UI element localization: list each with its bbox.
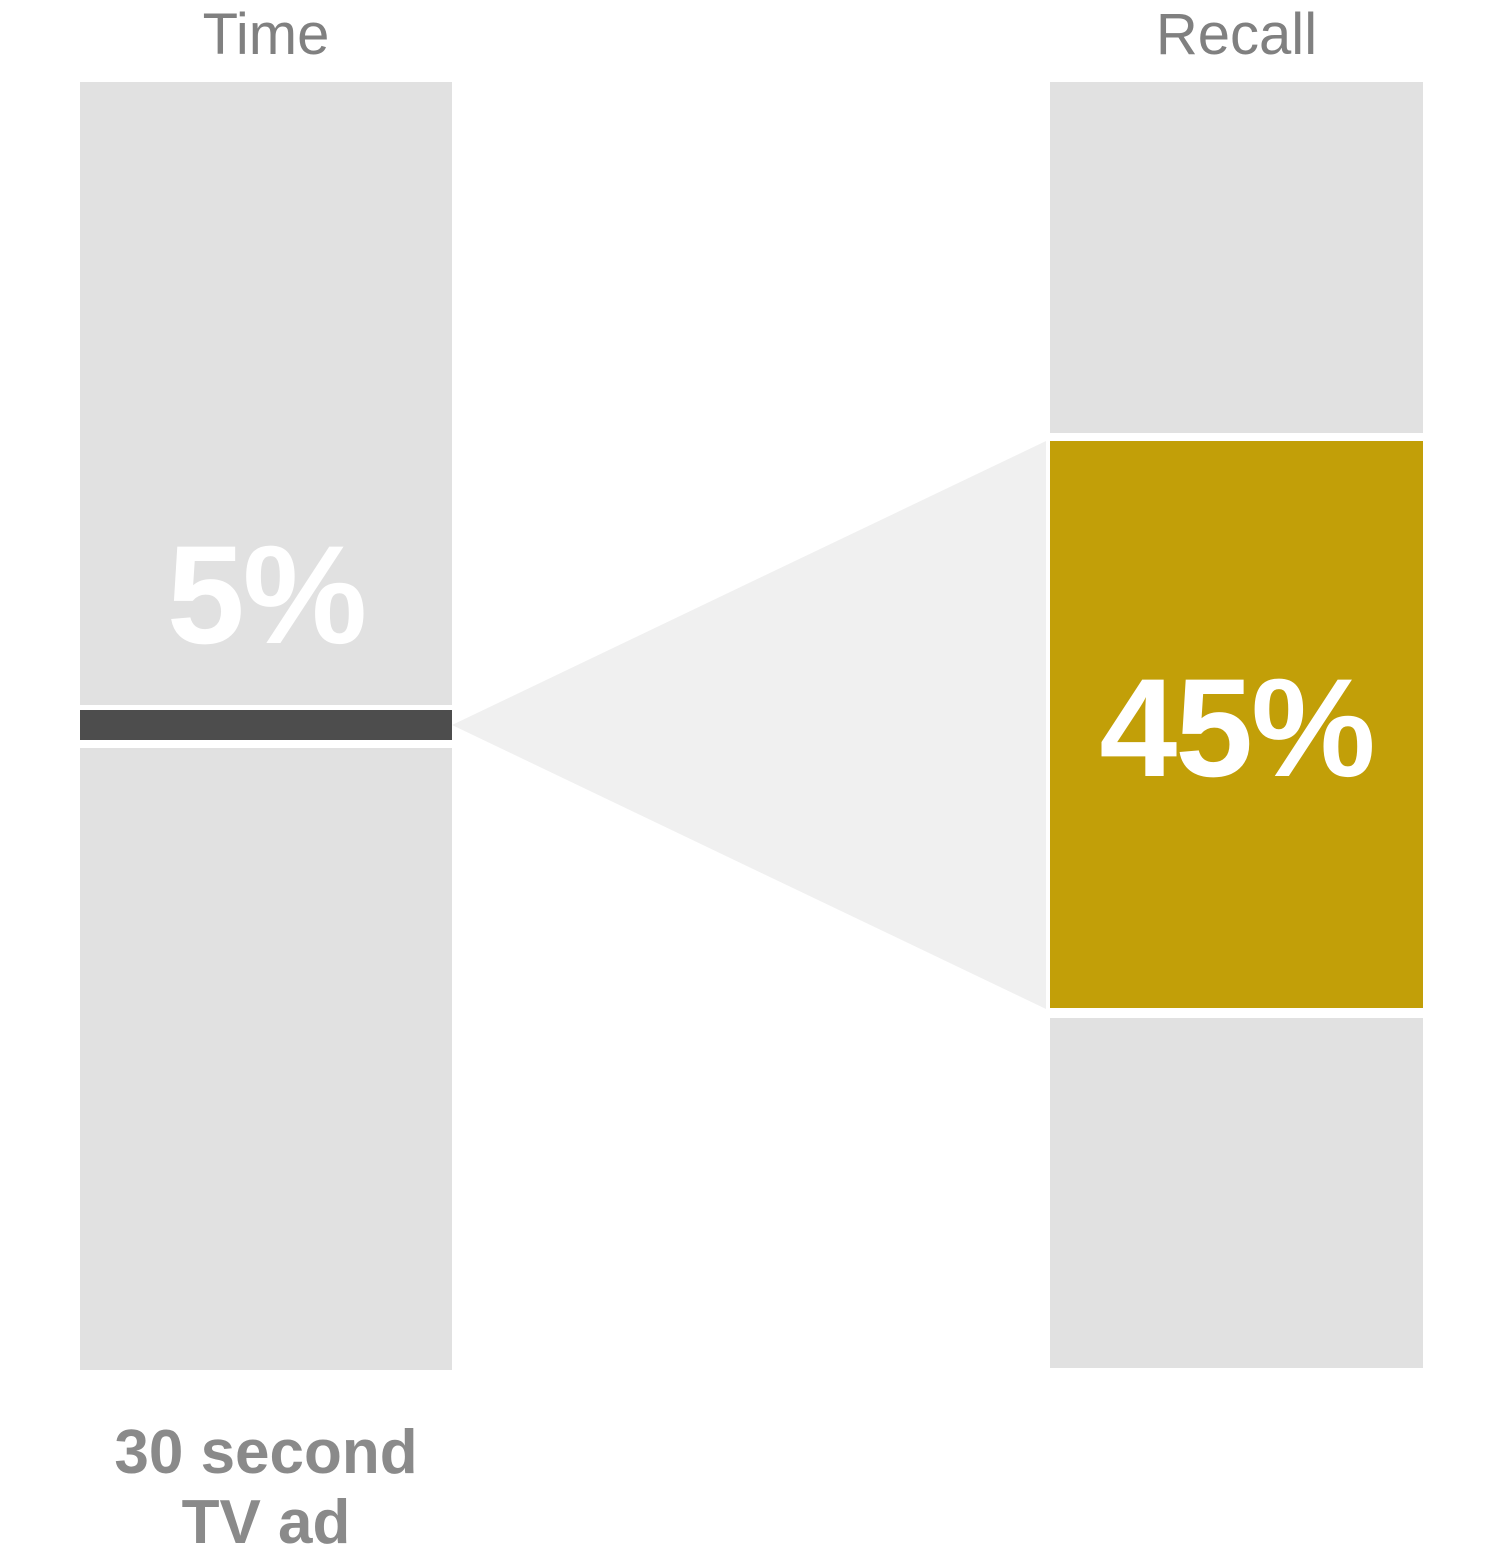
time-track-lower-segment	[80, 748, 452, 1370]
recall-track-lower-segment	[1050, 1018, 1423, 1368]
column-header-time: Time	[80, 6, 452, 64]
time-value-label: 5%	[80, 525, 452, 665]
caption-line-1: 30 second	[46, 1418, 486, 1488]
connector-wedge	[452, 441, 1046, 1009]
time-column: 5%	[80, 82, 452, 1370]
column-header-recall: Recall	[1050, 6, 1423, 64]
time-column-caption: 30 second TV ad	[46, 1418, 486, 1557]
caption-line-2: TV ad	[46, 1488, 486, 1557]
time-highlight-band	[80, 710, 452, 740]
recall-value-label: 45%	[1050, 658, 1423, 798]
connector-wedge-shape	[452, 441, 1046, 1009]
recall-track-upper-segment	[1050, 82, 1423, 433]
infographic-canvas: Time Recall 5% 45% 30 second TV ad	[0, 0, 1500, 1557]
recall-column: 45%	[1050, 82, 1423, 1368]
